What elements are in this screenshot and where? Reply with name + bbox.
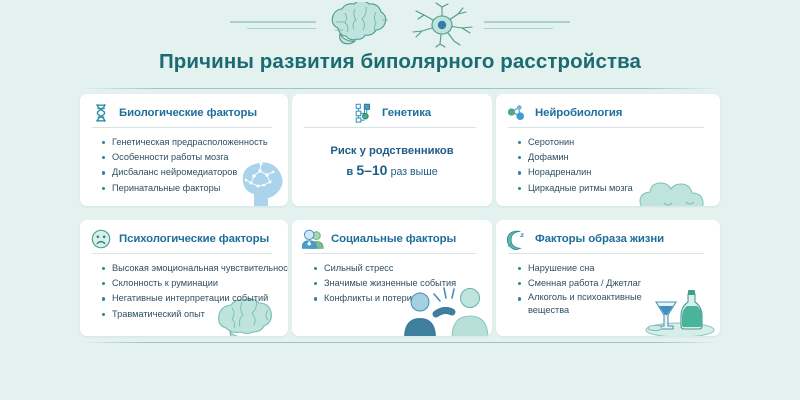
moon-icon (506, 228, 528, 250)
header: Причины развития биполярного расстройств… (0, 0, 800, 86)
list-item: Серотонин (518, 135, 710, 150)
infographic-page: Причины развития биполярного расстройств… (0, 0, 800, 400)
card-title: Биологические факторы (119, 107, 257, 119)
card-title: Социальные факторы (331, 233, 456, 245)
family-tree-icon (353, 102, 375, 124)
list-item: Циркадные ритмы мозга (518, 181, 710, 196)
card-biological[interactable]: Биологические факторы Генетическая предр… (80, 94, 288, 206)
list-item: Норадреналин (518, 165, 710, 180)
hero-illustration-row (0, 2, 800, 48)
page-title: Причины развития биполярного расстройств… (0, 50, 800, 74)
card-header: Генетика (302, 102, 482, 128)
genetics-line-1: Риск у родственников (302, 142, 482, 161)
card-neurobiology[interactable]: Нейробиология Серотонин Дофамин Норадрен… (496, 94, 720, 206)
list-item: Конфликты и потери (314, 291, 482, 306)
genetics-risk-statement: Риск у родственников в 5–10 раз выше (302, 142, 482, 182)
list-item: Перинатальные факторы (102, 181, 278, 196)
list-item: Дофамин (518, 150, 710, 165)
list-item: Алкоголь и психоактивные вещества (518, 291, 678, 316)
molecule-icon (506, 102, 528, 124)
genetics-suffix: раз выше (391, 166, 438, 178)
card-psychological[interactable]: Психологические факторы Высокая эмоциона… (80, 220, 288, 336)
decorative-lines-left (230, 21, 316, 29)
card-title: Генетика (382, 107, 431, 119)
card-title: Психологические факторы (119, 233, 269, 245)
decorative-lines-right (484, 21, 570, 29)
brain-illustration (322, 2, 400, 48)
card-bullet-list: Нарушение сна Сменная работа / Джетлаг А… (506, 261, 710, 317)
genetics-line-2: в 5–10 раз выше (302, 161, 482, 182)
dna-icon (90, 102, 112, 124)
list-item: Травматический опыт (102, 307, 278, 322)
cards-grid: Биологические факторы Генетическая предр… (80, 94, 720, 336)
card-genetics[interactable]: Генетика Риск у родственников в 5–10 раз… (292, 94, 492, 206)
list-item: Дисбаланс нейромедиаторов (102, 165, 278, 180)
card-bullet-list: Сильный стресс Значимые жизненные событи… (302, 261, 482, 307)
card-header: Нейробиология (506, 102, 710, 128)
card-bullet-list: Серотонин Дофамин Норадреналин Циркадные… (506, 135, 710, 196)
genetics-prefix: в (346, 166, 353, 178)
list-item: Склонность к руминации (102, 276, 278, 291)
card-header: Психологические факторы (90, 228, 278, 254)
list-item: Сильный стресс (314, 261, 482, 276)
list-item: Нарушение сна (518, 261, 710, 276)
list-item: Генетическая предрасположенность (102, 135, 278, 150)
card-title: Нейробиология (535, 107, 622, 119)
title-divider (80, 88, 720, 89)
card-lifestyle[interactable]: Факторы образа жизни Нарушение сна Сменн… (496, 220, 720, 336)
sad-face-icon (90, 228, 112, 250)
list-item: Значимые жизненные события (314, 276, 482, 291)
bottom-divider (80, 342, 720, 343)
card-title: Факторы образа жизни (535, 233, 664, 245)
genetics-multiplier: 5–10 (356, 162, 387, 178)
neuron-illustration (406, 2, 478, 48)
list-item: Сменная работа / Джетлаг (518, 276, 710, 291)
list-item: Особенности работы мозга (102, 150, 278, 165)
list-item: Негативные интерпретации событий (102, 291, 278, 306)
card-header: Биологические факторы (90, 102, 278, 128)
card-social[interactable]: Социальные факторы Сильный стресс Значим… (292, 220, 492, 336)
card-bullet-list: Генетическая предрасположенность Особенн… (90, 135, 278, 196)
card-bullet-list: Высокая эмоциональная чувствительность С… (90, 261, 278, 322)
card-header: Факторы образа жизни (506, 228, 710, 254)
card-header: Социальные факторы (302, 228, 482, 254)
people-icon (302, 228, 324, 250)
list-item: Высокая эмоциональная чувствительность (102, 261, 278, 276)
